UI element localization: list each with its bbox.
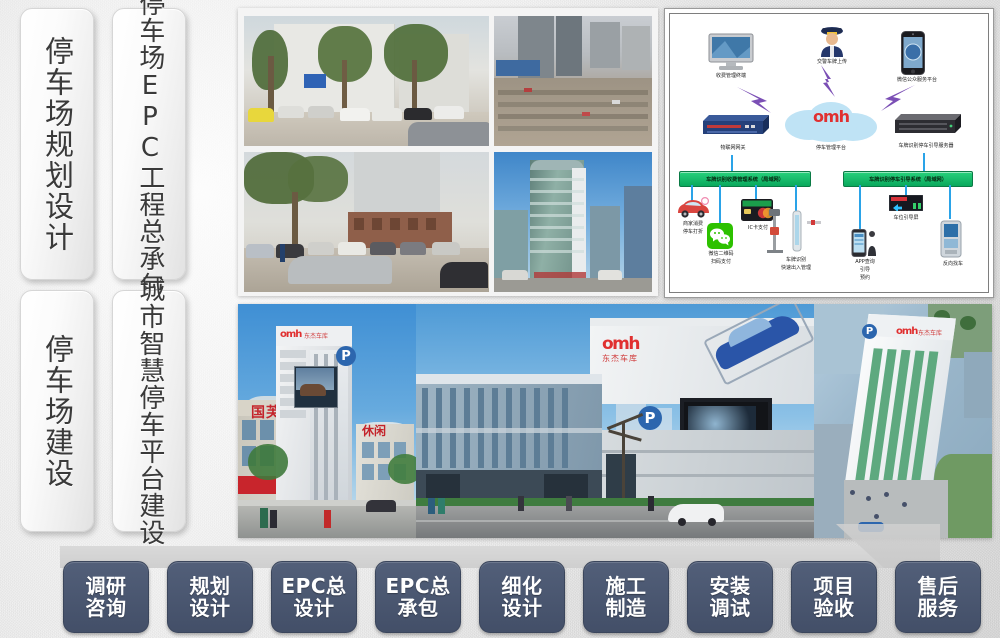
photo-aerial-parking <box>494 16 652 146</box>
process-step-line2: 调试 <box>710 597 751 619</box>
label-wechat-qr-line1: 微信二维码 <box>693 251 749 257</box>
wire-server-to-right-banner <box>923 153 925 171</box>
process-step-construction-manufacture[interactable]: 施工 制造 <box>583 561 669 633</box>
process-step-line1: EPC总 <box>386 575 451 597</box>
process-step-line2: 服务 <box>918 597 959 619</box>
rendering-brand-name: 东杰车库 <box>304 331 328 340</box>
kiosk-icon <box>939 219 963 264</box>
monitor-icon <box>707 33 755 76</box>
led-guidance-screen-icon <box>889 195 923 216</box>
process-step-line1: 售后 <box>918 575 959 597</box>
rendering-aerial-tower-right: omh 东杰车库 P <box>814 304 992 538</box>
process-step-after-sales-service[interactable]: 售后 服务 <box>895 561 981 633</box>
sidebar-card-label: 停车场EPC工程总承包 <box>135 0 163 299</box>
app-phone-icon <box>851 229 879 262</box>
bolt-cloud-to-wechat <box>865 83 915 118</box>
wire-branch-wechat-qr <box>719 185 721 223</box>
sidebar-card-parking-epc-contract[interactable]: 停车场EPC工程总承包 <box>112 8 186 280</box>
wire-gateway-to-left-banner <box>731 155 733 171</box>
label-guidance-server: 车牌识别停车引导服务器 <box>879 143 973 149</box>
label-plate-entry-line1: 车牌识别 <box>765 257 827 263</box>
label-cloud-platform: 停车管理平台 <box>791 145 871 151</box>
rendering-brand-name-2: 东杰车库 <box>602 353 638 364</box>
process-step-line2: 设计 <box>190 597 231 619</box>
parking-symbol-badge-3: P <box>862 324 877 339</box>
photo-brick-building-lot <box>244 152 489 292</box>
process-step-line1: 安装 <box>710 575 751 597</box>
label-plate-entry-line2: 快速出入管理 <box>759 265 833 271</box>
label-app-query-line1: APP查询 <box>837 259 893 265</box>
photo-street-parking <box>244 16 489 146</box>
banner-plate-charging-system: 车牌识别收费管理系统（局域网） <box>679 171 811 187</box>
process-step-epc-contracting[interactable]: EPC总 承包 <box>375 561 461 633</box>
sidebar-card-label: 停车场建设 <box>41 334 72 489</box>
sidebar-card-smart-parking-platform[interactable]: 城市智慧停车平台建设 <box>112 290 186 532</box>
aerial-brand-logo: omh <box>896 326 917 337</box>
smartphone-icon <box>901 31 925 80</box>
process-step-line2: 咨询 <box>86 597 127 619</box>
rendering-brand-logo-2: omh <box>602 334 639 354</box>
sidebar-card-label: 城市智慧停车平台建设 <box>135 276 163 546</box>
wire-branch-ic-card <box>755 185 757 199</box>
rendering-garage-center: omh 东杰车库 P <box>416 304 814 538</box>
process-step-planning-design[interactable]: 规划 设计 <box>167 561 253 633</box>
label-app-query-line2: 引导 <box>837 267 893 273</box>
car-icon <box>675 197 711 224</box>
wechat-icon <box>707 223 733 254</box>
renderings-panel: 国芙蓉 omh 东杰车库 P <box>238 304 992 538</box>
police-officer-icon <box>817 23 847 62</box>
process-step-line2: 验收 <box>814 597 855 619</box>
signage-text-2: 休闲 <box>362 422 386 439</box>
aerial-brand-name: 东杰车库 <box>918 328 942 337</box>
label-iot-gateway: 物联网网关 <box>697 145 769 151</box>
bolt-terminal-to-cloud <box>737 83 793 122</box>
parking-symbol-badge: P <box>336 346 356 366</box>
process-step-installation-commissioning[interactable]: 安装 调试 <box>687 561 773 633</box>
label-guidance-screen: 车位引导屏 <box>877 215 935 221</box>
process-step-detailed-design[interactable]: 细化 设计 <box>479 561 565 633</box>
slide-root: 停车场规划设计 停车场EPC工程总承包 停车场建设 城市智慧停车平台建设 <box>0 0 1000 638</box>
photo-glass-tower <box>494 152 652 292</box>
process-step-line2: 承包 <box>398 597 439 619</box>
process-step-epc-design[interactable]: EPC总 设计 <box>271 561 357 633</box>
process-step-line1: 调研 <box>86 575 127 597</box>
sidebar-card-parking-planning-design[interactable]: 停车场规划设计 <box>20 8 94 280</box>
rendering-parking-tower-left: 国芙蓉 omh 东杰车库 P <box>238 304 416 538</box>
label-charging-terminal: 收费管理终端 <box>695 73 767 79</box>
process-step-line1: 施工 <box>606 575 647 597</box>
label-reverse-find-car: 反向找车 <box>927 261 979 267</box>
bolt-police-to-cloud <box>817 65 839 108</box>
process-step-project-acceptance[interactable]: 项目 验收 <box>791 561 877 633</box>
wire-branch-guidance-screen <box>905 185 907 195</box>
process-step-line1: EPC总 <box>282 575 347 597</box>
barrier-gate-icon <box>767 207 821 258</box>
parking-symbol-badge-2: P <box>638 406 662 430</box>
label-wechat-qr-line2: 扫码支付 <box>693 259 749 265</box>
wire-branch-app-query <box>859 185 861 229</box>
process-step-line2: 设计 <box>294 597 335 619</box>
process-step-survey-consult[interactable]: 调研 咨询 <box>63 561 149 633</box>
banner-plate-guidance-system: 车牌识别停车引导系统（局域网） <box>843 171 973 187</box>
process-step-line1: 细化 <box>502 575 543 597</box>
system-architecture-diagram-panel: omh 停车管理平台 收费管理终端 交警车牌上传 <box>664 8 994 298</box>
process-step-line2: 设计 <box>502 597 543 619</box>
process-step-line1: 规划 <box>190 575 231 597</box>
sidebar-card-label: 停车场规划设计 <box>41 36 72 253</box>
photo-collage-panel <box>238 8 658 296</box>
sidebar-card-parking-construction[interactable]: 停车场建设 <box>20 290 94 532</box>
rendering-brand-logo: omh <box>280 329 301 340</box>
process-step-line2: 制造 <box>606 597 647 619</box>
cloud-logo-omh: omh <box>801 107 861 126</box>
wire-branch-reverse-find <box>949 185 951 219</box>
label-app-query-line3: 预约 <box>837 275 893 281</box>
process-step-line1: 项目 <box>814 575 855 597</box>
